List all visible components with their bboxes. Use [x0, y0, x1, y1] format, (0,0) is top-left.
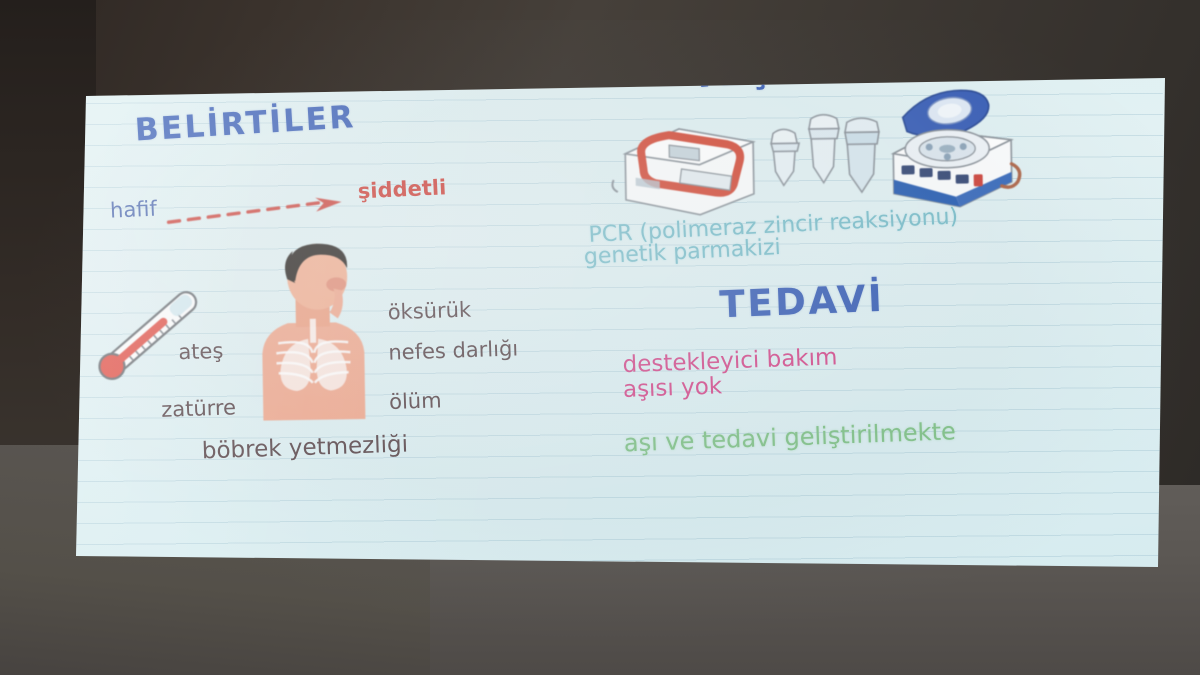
heading-belirtiler: BELİRTİLER	[134, 99, 357, 148]
symptom-label-olum: ölüm	[389, 388, 442, 414]
human-torso-lungs-icon	[237, 234, 390, 421]
severity-arrow-icon	[166, 195, 357, 231]
severity-label-severe: şiddetli	[357, 175, 446, 203]
treatment-line-asi-ve-tedavi-gelistirilmekte: aşı ve tedavi geliştirilmekte	[623, 417, 956, 457]
symptom-label-oksuruk: öksürük	[387, 298, 471, 325]
centrifuge-icon	[892, 89, 1020, 207]
thermocycler-icon	[612, 128, 755, 216]
treatment-line-destekleyici-bakim: destekleyici bakım	[622, 344, 838, 378]
sample-tubes-icon	[771, 114, 880, 194]
symptom-label-ates: ateş	[178, 339, 224, 364]
symptom-label-bobrek-yetmezligi: böbrek yetmezliği	[201, 432, 408, 465]
severity-label-mild: hafif	[110, 197, 158, 223]
treatment-line-asisi-yok: aşısı yok	[623, 373, 723, 403]
slide-content: BELİRTİLER hafif şiddetli	[66, 69, 1169, 586]
lab-equipment-illustration	[606, 86, 1028, 223]
heading-tedavi: TEDAVİ	[719, 277, 885, 327]
symptom-label-nefes-darligi: nefes darlığı	[388, 336, 519, 364]
screenshot-stage: BELİRTİLER hafif şiddetli	[0, 0, 1200, 675]
symptom-label-zaturre: zatürre	[161, 395, 237, 421]
projected-slide: BELİRTİLER hafif şiddetli	[70, 78, 1165, 578]
